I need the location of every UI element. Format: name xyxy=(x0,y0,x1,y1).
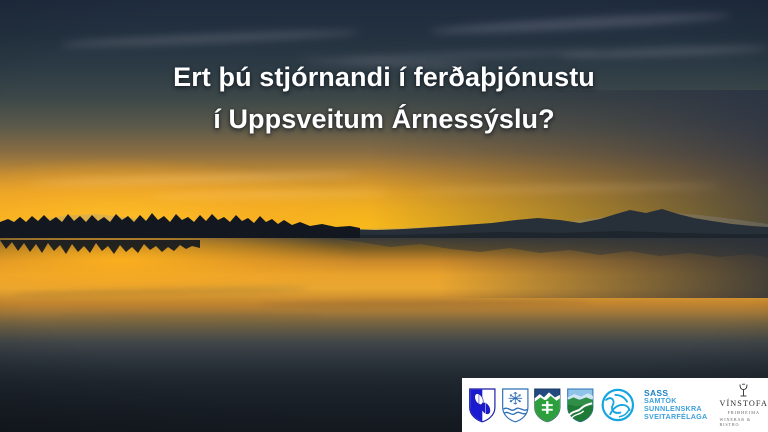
vinstofa-tagline: WINEBAR & BISTRO xyxy=(719,417,768,427)
vinstofa-name: VÍNSTOFA xyxy=(719,399,768,408)
treeline-reflection xyxy=(0,240,200,266)
sass-line-3: SVEITARFÉLAGA xyxy=(644,413,707,421)
grimsnes-og-grafningshreppur-crest xyxy=(566,384,595,426)
logo-bar: SASS SAMTÖK SUNNLENSKRA SVEITARFÉLAGA VÍ… xyxy=(462,378,768,432)
slide-canvas: Ert þú stjórnandi í ferðaþjónustu í Upps… xyxy=(0,0,768,432)
hrunamannahreppur-crest xyxy=(501,384,530,426)
headline-line-2: í Uppsveitum Árnessýslu? xyxy=(0,98,768,140)
vinstofa-logo: VÍNSTOFA FRIÐHEIMA WINEBAR & BISTRO xyxy=(719,383,768,427)
uppsveitir-circle-logo xyxy=(601,385,635,425)
headline-line-1: Ert þú stjórnandi í ferðaþjónustu xyxy=(0,56,768,98)
page-title: Ert þú stjórnandi í ferðaþjónustu í Upps… xyxy=(0,56,768,140)
sass-logo-text: SASS SAMTÖK SUNNLENSKRA SVEITARFÉLAGA xyxy=(644,389,707,422)
blaskogabyggd-crest xyxy=(468,384,497,426)
vinstofa-location: FRIÐHEIMA xyxy=(727,410,760,415)
wine-glass-icon xyxy=(737,383,750,398)
mountain-reflection xyxy=(330,238,768,268)
skeida-og-gnupverjahreppur-crest xyxy=(533,384,562,426)
